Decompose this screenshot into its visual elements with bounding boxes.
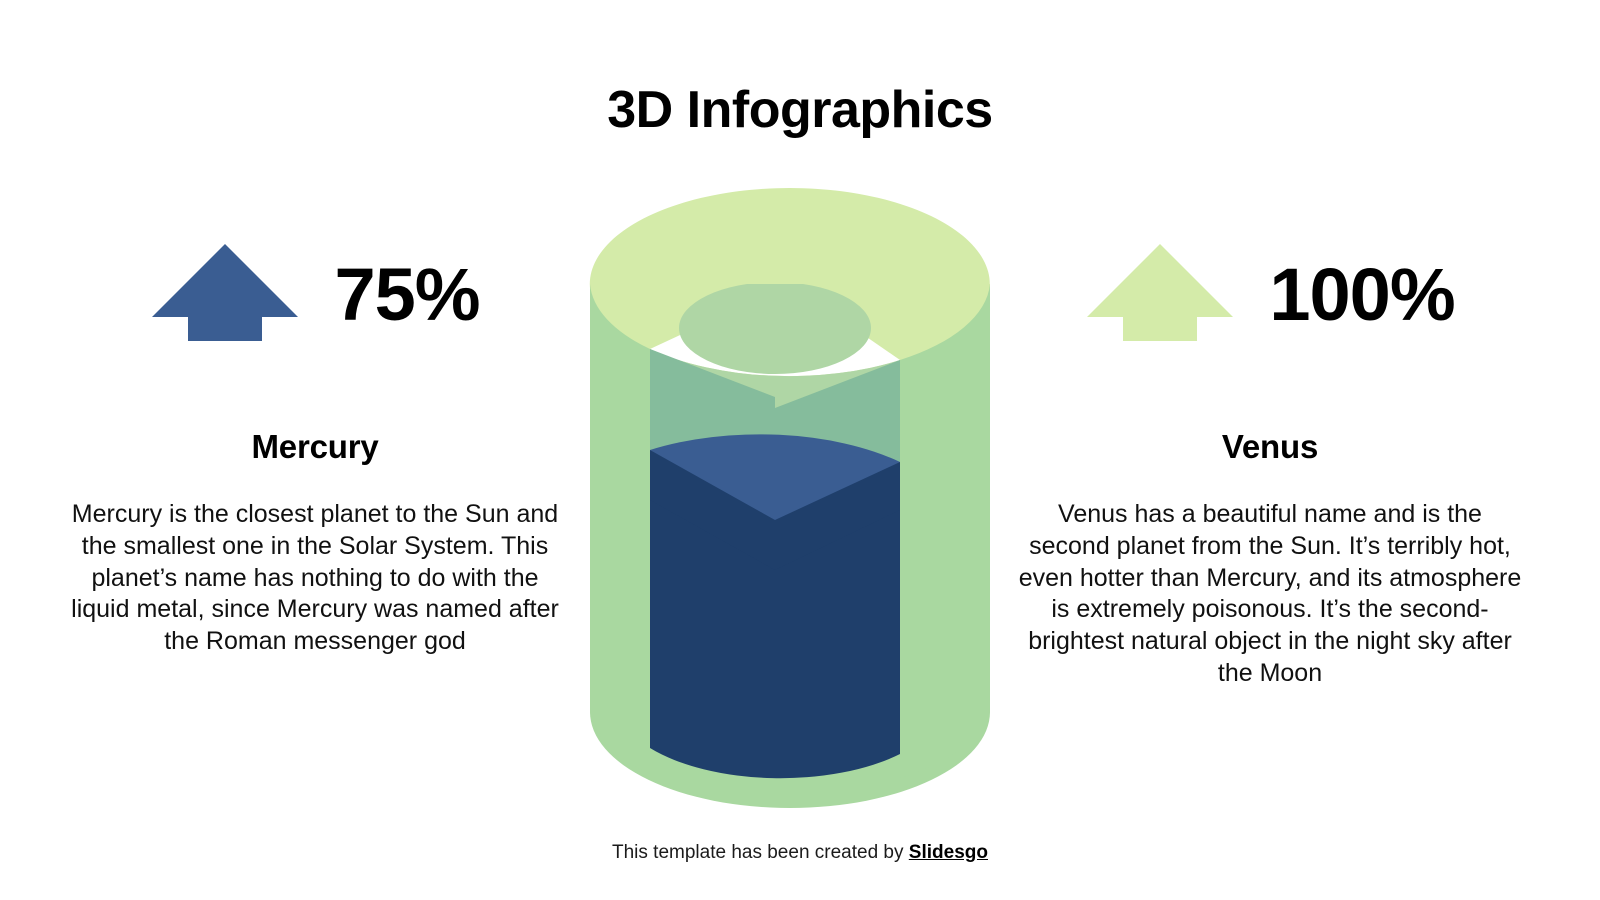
cutaway-cylinder-chart xyxy=(578,188,1002,808)
planet-description-venus: Venus has a beautiful name and is the se… xyxy=(1010,499,1530,690)
planet-name-venus: Venus xyxy=(1010,428,1530,466)
arrow-up-icon xyxy=(150,240,300,350)
stat-value-venus: 100% xyxy=(1269,258,1454,332)
planet-description-mercury: Mercury is the closest planet to the Sun… xyxy=(55,499,575,658)
slidesgo-link[interactable]: Slidesgo xyxy=(909,842,988,863)
arrow-up-icon xyxy=(1085,240,1235,350)
planet-name-mercury: Mercury xyxy=(55,428,575,466)
stat-column-mercury: 75% Mercury Mercury is the closest plane… xyxy=(55,240,575,658)
footer-text: This template has been created by xyxy=(612,842,909,863)
footer-credit: This template has been created by Slides… xyxy=(0,842,1600,864)
inner-fill-cylinder xyxy=(650,434,900,778)
stat-row-mercury: 75% xyxy=(55,240,575,350)
stat-row-venus: 100% xyxy=(1010,240,1530,350)
stat-column-venus: 100% Venus Venus has a beautiful name an… xyxy=(1010,240,1530,690)
slide-root: 3D Infographics 75% Mercury Mercury is t… xyxy=(0,0,1600,900)
page-title: 3D Infographics xyxy=(0,82,1600,139)
stat-value-mercury: 75% xyxy=(334,258,479,332)
